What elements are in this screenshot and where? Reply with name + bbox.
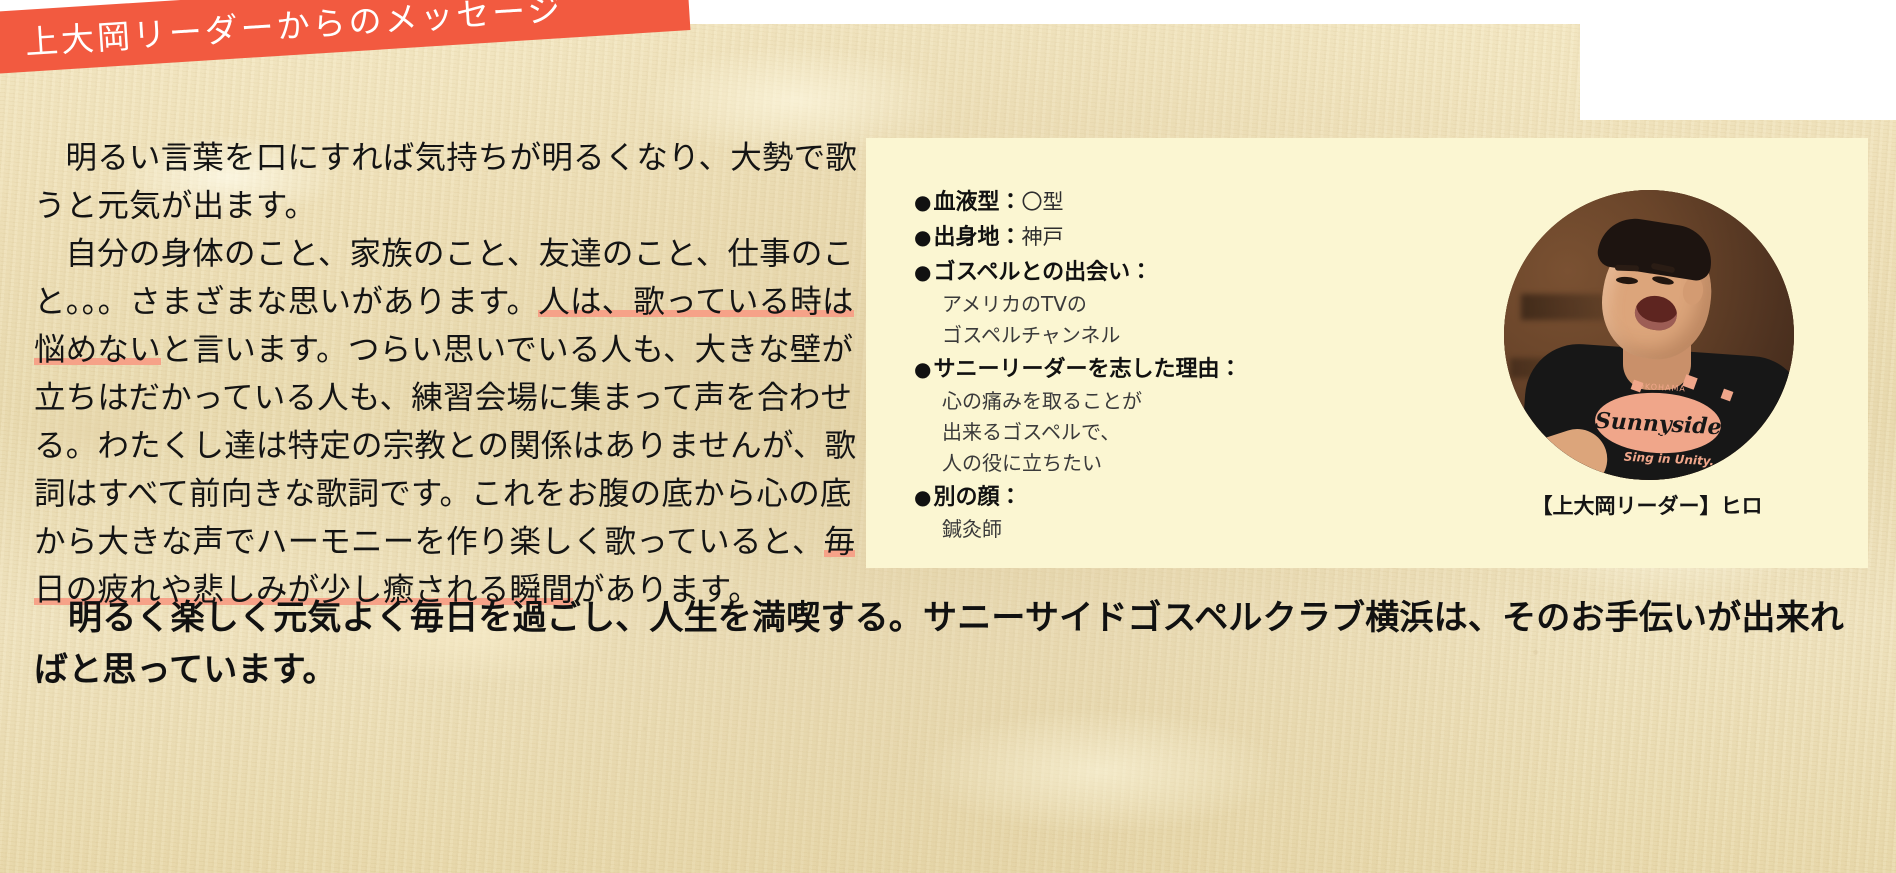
bullet-icon: ● (914, 256, 931, 289)
photo-caption: 【上大岡リーダー】ヒロ (1432, 490, 1862, 520)
profile-item-heading: ●出身地：神戸 (914, 221, 1474, 254)
bullet-icon: ● (914, 481, 931, 514)
profile-item: ●出身地：神戸 (914, 221, 1474, 254)
profile-item: ●別の顔：鍼灸師 (914, 481, 1474, 545)
leader-photo: YOKOHAMA Sunnyside Gospel Club Sing in U… (1504, 190, 1794, 480)
closing-text: 明るく楽しく元気よく毎日を過ごし、人生を満喫する。サニーサイドゴスペルクラブ横浜… (34, 592, 1864, 696)
profile-item-heading: ●サニーリーダーを志した理由： (914, 353, 1474, 386)
profile-item-label: 別の顔： (933, 481, 1021, 514)
profile-item-detail-line: 心の痛みを取ることが (914, 386, 1474, 417)
profile-item: ●ゴスペルとの出会い：アメリカのTVのゴスペルチャンネル (914, 256, 1474, 351)
profile-item: ●サニーリーダーを志した理由：心の痛みを取ることが出来るゴスペルで、人の役に立ち… (914, 353, 1474, 479)
profile-item-detail-line: ゴスペルチャンネル (914, 320, 1474, 351)
profile-item-label: 血液型： (933, 186, 1021, 219)
profile-item: ●血液型：〇型 (914, 186, 1474, 219)
profile-item-value: 〇型 (1021, 186, 1063, 219)
profile-item-heading: ●別の顔： (914, 481, 1474, 514)
profile-item-value: 神戸 (1021, 221, 1063, 254)
leader-profile-card: ●血液型：〇型●出身地：神戸●ゴスペルとの出会い：アメリカのTVのゴスペルチャン… (866, 138, 1868, 568)
message-paragraph: 自分の身体のこと、家族のこと、友達のこと、仕事のこと。。。さまざまな思いがありま… (34, 230, 864, 614)
profile-item-heading: ●血液型：〇型 (914, 186, 1474, 219)
profile-item-detail-line: アメリカのTVの (914, 289, 1474, 320)
closing-paragraph: 明るく楽しく元気よく毎日を過ごし、人生を満喫する。サニーサイドゴスペルクラブ横浜… (34, 592, 1864, 696)
message-paragraph: 明るい言葉を口にすれば気持ちが明るくなり、大勢で歌うと元気が出ます。 (34, 134, 864, 230)
profile-item-label: サニーリーダーを志した理由： (933, 353, 1241, 386)
profile-item-detail-line: 人の役に立ちたい (914, 448, 1474, 479)
bullet-icon: ● (914, 186, 931, 219)
body-text: 明るい言葉を口にすれば気持ちが明るくなり、大勢で歌うと元気が出ます。 (34, 140, 857, 224)
profile-fact-list: ●血液型：〇型●出身地：神戸●ゴスペルとの出会い：アメリカのTVのゴスペルチャン… (914, 186, 1474, 547)
top-right-white-margin (1580, 0, 1896, 120)
profile-item-detail-line: 鍼灸師 (914, 514, 1474, 545)
bullet-icon: ● (914, 221, 931, 254)
profile-item-label: ゴスペルとの出会い： (933, 256, 1152, 289)
message-body: 明るい言葉を口にすれば気持ちが明るくなり、大勢で歌うと元気が出ます。自分の身体の… (34, 134, 864, 614)
bullet-icon: ● (914, 353, 931, 386)
profile-item-heading: ●ゴスペルとの出会い： (914, 256, 1474, 289)
profile-item-detail-line: 出来るゴスペルで、 (914, 417, 1474, 448)
profile-item-label: 出身地： (933, 221, 1021, 254)
